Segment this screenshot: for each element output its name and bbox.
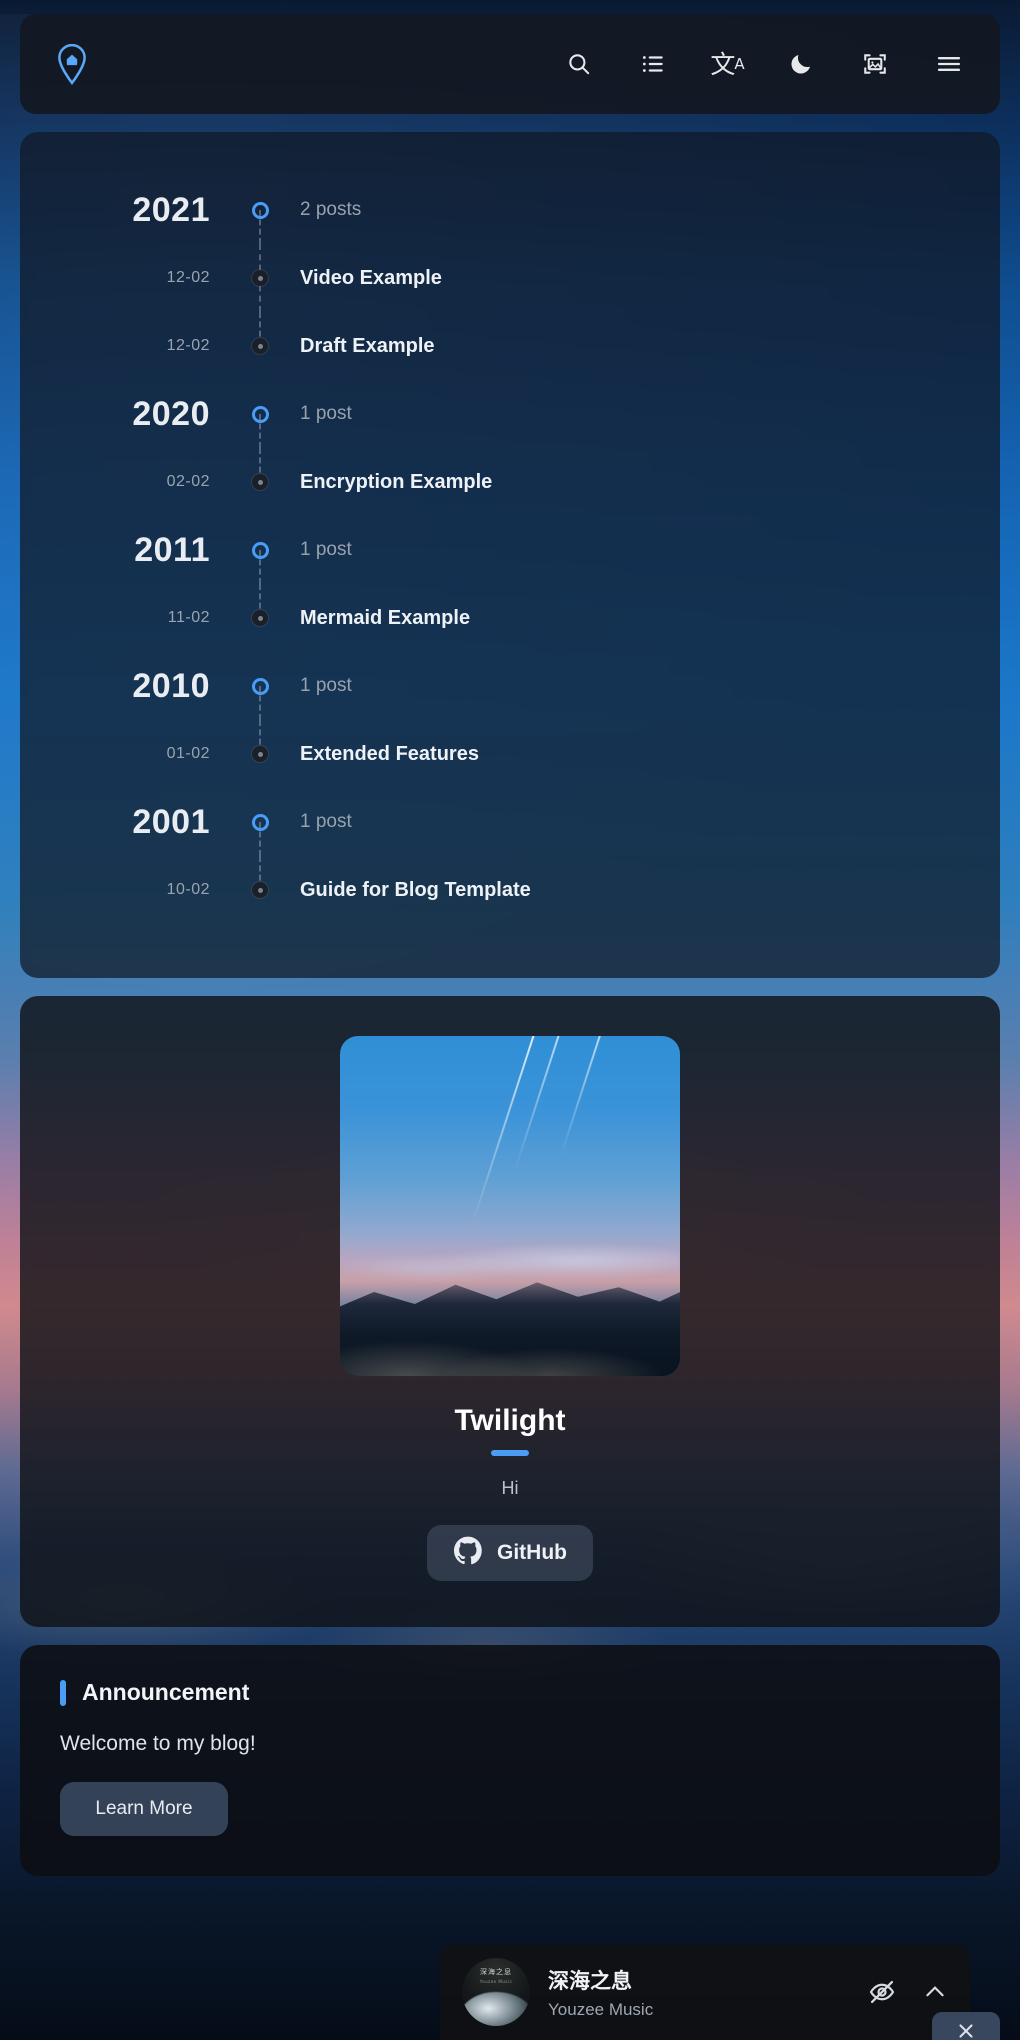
post-count-text: 1 post bbox=[300, 539, 352, 561]
timeline-marker bbox=[238, 652, 282, 720]
year-ring-marker bbox=[252, 202, 269, 219]
year-text: 2020 bbox=[60, 395, 210, 434]
post-title-link[interactable]: Guide for Blog Template bbox=[300, 879, 531, 902]
timeline-title-col: Draft Example bbox=[282, 335, 435, 358]
post-date-text: 02-02 bbox=[60, 473, 210, 491]
timeline-year-label: 2010 bbox=[60, 667, 238, 706]
timeline-count-col: 2 posts bbox=[282, 199, 361, 221]
year-ring-marker bbox=[252, 814, 269, 831]
post-date-text: 01-02 bbox=[60, 745, 210, 763]
close-button[interactable] bbox=[932, 2012, 1000, 2040]
timeline-post-row[interactable]: 12-02 Video Example bbox=[60, 244, 960, 312]
timeline-title-col: Video Example bbox=[282, 267, 442, 290]
album-art-wave bbox=[462, 1992, 530, 2026]
image-icon[interactable] bbox=[858, 47, 892, 81]
timeline-year-row: 2011 1 post bbox=[60, 516, 960, 584]
timeline-date-col: 12-02 bbox=[60, 337, 238, 355]
album-art: 深海之息 Youzee Music bbox=[462, 1958, 530, 2026]
timeline-count-col: 1 post bbox=[282, 675, 352, 697]
timeline-marker bbox=[238, 720, 282, 788]
timeline-year-row: 2020 1 post bbox=[60, 380, 960, 448]
timeline-year-label: 2001 bbox=[60, 803, 238, 842]
timeline-count-col: 1 post bbox=[282, 403, 352, 425]
timeline-date-col: 10-02 bbox=[60, 881, 238, 899]
announcement-header: Announcement bbox=[60, 1679, 960, 1706]
track-artist: Youzee Music bbox=[548, 2000, 850, 2020]
year-text: 2001 bbox=[60, 803, 210, 842]
timeline-marker bbox=[238, 448, 282, 516]
github-button[interactable]: GitHub bbox=[427, 1525, 593, 1581]
post-dot-marker bbox=[252, 882, 268, 898]
chevron-up-icon[interactable] bbox=[922, 1979, 948, 2005]
close-icon bbox=[955, 2020, 977, 2040]
timeline-year-label: 2011 bbox=[60, 531, 238, 570]
timeline-marker bbox=[238, 788, 282, 856]
menu-icon[interactable] bbox=[932, 47, 966, 81]
github-button-label: GitHub bbox=[497, 1541, 567, 1565]
timeline-count-col: 1 post bbox=[282, 539, 352, 561]
timeline-title-col: Extended Features bbox=[282, 743, 479, 766]
timeline-year-label: 2021 bbox=[60, 191, 238, 230]
timeline-marker bbox=[238, 312, 282, 380]
timeline-title-col: Guide for Blog Template bbox=[282, 879, 531, 902]
timeline-marker bbox=[238, 244, 282, 312]
page-root: 文A bbox=[0, 14, 1020, 1876]
title-underline bbox=[491, 1450, 529, 1456]
year-ring-marker bbox=[252, 678, 269, 695]
timeline-post-row[interactable]: 10-02 Guide for Blog Template bbox=[60, 856, 960, 924]
timeline-date-col: 12-02 bbox=[60, 269, 238, 287]
announcement-body: Welcome to my blog! bbox=[60, 1732, 960, 1756]
learn-more-button[interactable]: Learn More bbox=[60, 1782, 228, 1836]
home-pin-logo[interactable] bbox=[54, 42, 94, 86]
site-header: 文A bbox=[20, 14, 1000, 114]
year-text: 2021 bbox=[60, 191, 210, 230]
archive-timeline-card: 2021 2 posts 12-02 Video Example bbox=[20, 132, 1000, 978]
post-count-text: 1 post bbox=[300, 675, 352, 697]
accent-bar bbox=[60, 1680, 66, 1706]
post-dot-marker bbox=[252, 474, 268, 490]
timeline-post-row[interactable]: 11-02 Mermaid Example bbox=[60, 584, 960, 652]
list-icon[interactable] bbox=[636, 47, 670, 81]
timeline-post-row[interactable]: 12-02 Draft Example bbox=[60, 312, 960, 380]
timeline-year-label: 2020 bbox=[60, 395, 238, 434]
album-art-title: 深海之息 bbox=[462, 1967, 530, 1977]
timeline-post-row[interactable]: 02-02 Encryption Example bbox=[60, 448, 960, 516]
music-player: 深海之息 Youzee Music 深海之息 Youzee Music bbox=[440, 1944, 970, 2040]
post-title-link[interactable]: Extended Features bbox=[300, 743, 479, 766]
track-title: 深海之息 bbox=[548, 1965, 850, 1995]
profile-bio: Hi bbox=[502, 1478, 519, 1499]
post-date-text: 12-02 bbox=[60, 337, 210, 355]
profile-card: Twilight Hi GitHub bbox=[20, 996, 1000, 1627]
page-title: Twilight bbox=[454, 1404, 565, 1438]
header-nav-icons: 文A bbox=[562, 47, 966, 81]
timeline-date-col: 01-02 bbox=[60, 745, 238, 763]
timeline-marker bbox=[238, 516, 282, 584]
avatar bbox=[340, 1036, 680, 1376]
eye-slash-icon[interactable] bbox=[868, 1978, 896, 2006]
album-art-subtitle: Youzee Music bbox=[462, 1979, 530, 1984]
timeline-marker bbox=[238, 176, 282, 244]
post-count-text: 1 post bbox=[300, 811, 352, 833]
track-meta: 深海之息 Youzee Music bbox=[548, 1965, 850, 2020]
timeline-marker bbox=[238, 380, 282, 448]
post-title-link[interactable]: Encryption Example bbox=[300, 471, 492, 494]
post-title-link[interactable]: Video Example bbox=[300, 267, 442, 290]
timeline-date-col: 11-02 bbox=[60, 609, 238, 627]
translate-glyph: 文 bbox=[710, 52, 734, 77]
announcement-card: Announcement Welcome to my blog! Learn M… bbox=[20, 1645, 1000, 1876]
post-dot-marker bbox=[252, 338, 268, 354]
year-ring-marker bbox=[252, 542, 269, 559]
post-date-text: 11-02 bbox=[60, 609, 210, 627]
moon-icon[interactable] bbox=[784, 47, 818, 81]
timeline-year-row: 2010 1 post bbox=[60, 652, 960, 720]
post-dot-marker bbox=[252, 610, 268, 626]
post-date-text: 12-02 bbox=[60, 269, 210, 287]
timeline-count-col: 1 post bbox=[282, 811, 352, 833]
post-title-link[interactable]: Mermaid Example bbox=[300, 607, 470, 630]
translate-icon[interactable]: 文A bbox=[710, 47, 744, 81]
post-dot-marker bbox=[252, 746, 268, 762]
timeline-year-row: 2021 2 posts bbox=[60, 176, 960, 244]
timeline-date-col: 02-02 bbox=[60, 473, 238, 491]
search-icon[interactable] bbox=[562, 47, 596, 81]
timeline-title-col: Mermaid Example bbox=[282, 607, 470, 630]
timeline-post-row[interactable]: 01-02 Extended Features bbox=[60, 720, 960, 788]
announcement-title: Announcement bbox=[82, 1679, 249, 1706]
timeline-year-row: 2001 1 post bbox=[60, 788, 960, 856]
post-count-text: 1 post bbox=[300, 403, 352, 425]
year-ring-marker bbox=[252, 406, 269, 423]
year-text: 2011 bbox=[60, 531, 210, 570]
timeline-title-col: Encryption Example bbox=[282, 471, 492, 494]
post-title-link[interactable]: Draft Example bbox=[300, 335, 435, 358]
post-dot-marker bbox=[252, 270, 268, 286]
translate-glyph-sub: A bbox=[734, 57, 743, 72]
year-text: 2010 bbox=[60, 667, 210, 706]
player-actions bbox=[868, 1978, 948, 2006]
github-icon bbox=[453, 1536, 483, 1571]
post-date-text: 10-02 bbox=[60, 881, 210, 899]
post-count-text: 2 posts bbox=[300, 199, 361, 221]
timeline-marker bbox=[238, 584, 282, 652]
timeline-marker bbox=[238, 856, 282, 924]
